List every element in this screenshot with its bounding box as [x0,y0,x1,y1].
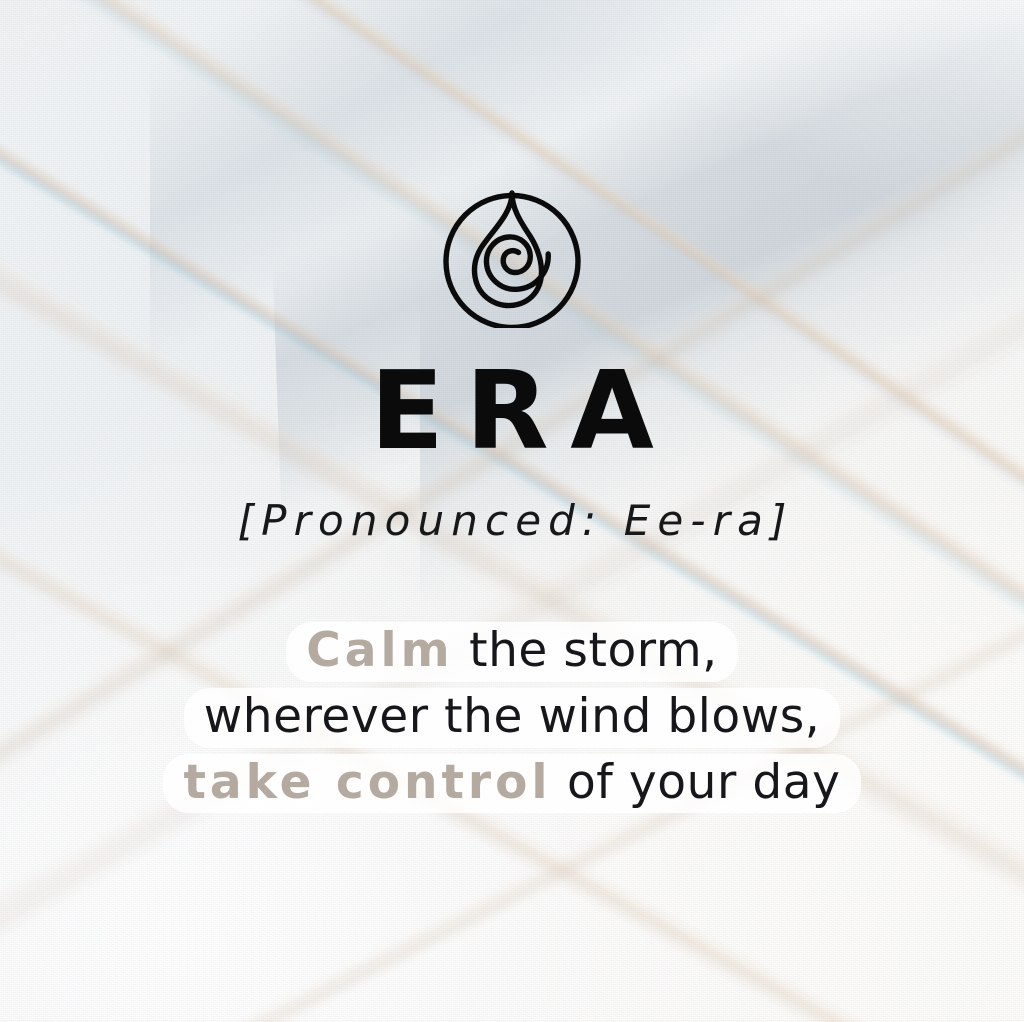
poster-content: ERA [Pronounced: Ee-ra] Calm the storm, … [0,0,1024,1022]
tagline-line-3: take control of your day [163,754,860,814]
tagline-line-1: Calm the storm, [286,622,737,682]
water-drop-spiral-logo-icon [442,188,582,328]
pronunciation-text: [Pronounced: Ee-ra] [0,500,1024,542]
tagline-text-3: of your day [551,755,840,810]
tagline-text-1: the storm, [454,623,718,678]
tagline-line-2: wherever the wind blows, [184,688,841,748]
brand-name: ERA [0,358,1024,466]
tagline-block: Calm the storm, wherever the wind blows,… [0,622,1024,813]
tagline-accent-calm: Calm [306,623,453,678]
tagline-text-2: wherever the wind blows, [204,689,821,744]
brand-poster: ERA [Pronounced: Ee-ra] Calm the storm, … [0,0,1024,1022]
tagline-accent-take-control: take control [183,755,551,810]
